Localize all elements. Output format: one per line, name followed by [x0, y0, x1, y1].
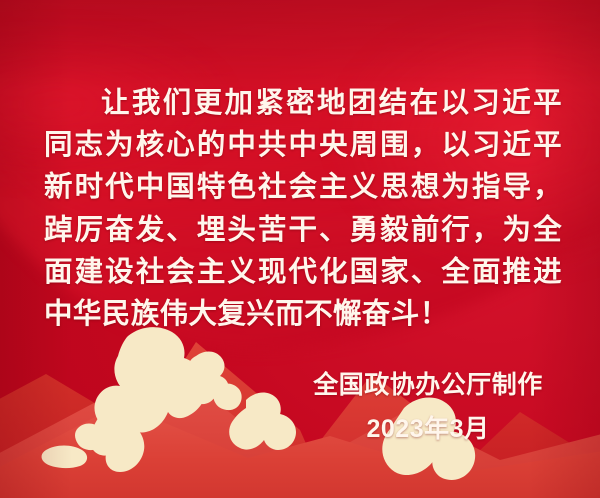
credit-date: 2023年3月	[298, 412, 558, 446]
credit-block: 全国政协办公厅制作 2023年3月	[298, 368, 558, 446]
poster-canvas: 让我们更加紧密地团结在以习近平同志为核心的中共中央周围，以习近平新时代中国特色社…	[0, 0, 600, 498]
credit-organization: 全国政协办公厅制作	[298, 368, 558, 402]
poster-body-text: 让我们更加紧密地团结在以习近平同志为核心的中共中央周围，以习近平新时代中国特色社…	[44, 82, 562, 335]
